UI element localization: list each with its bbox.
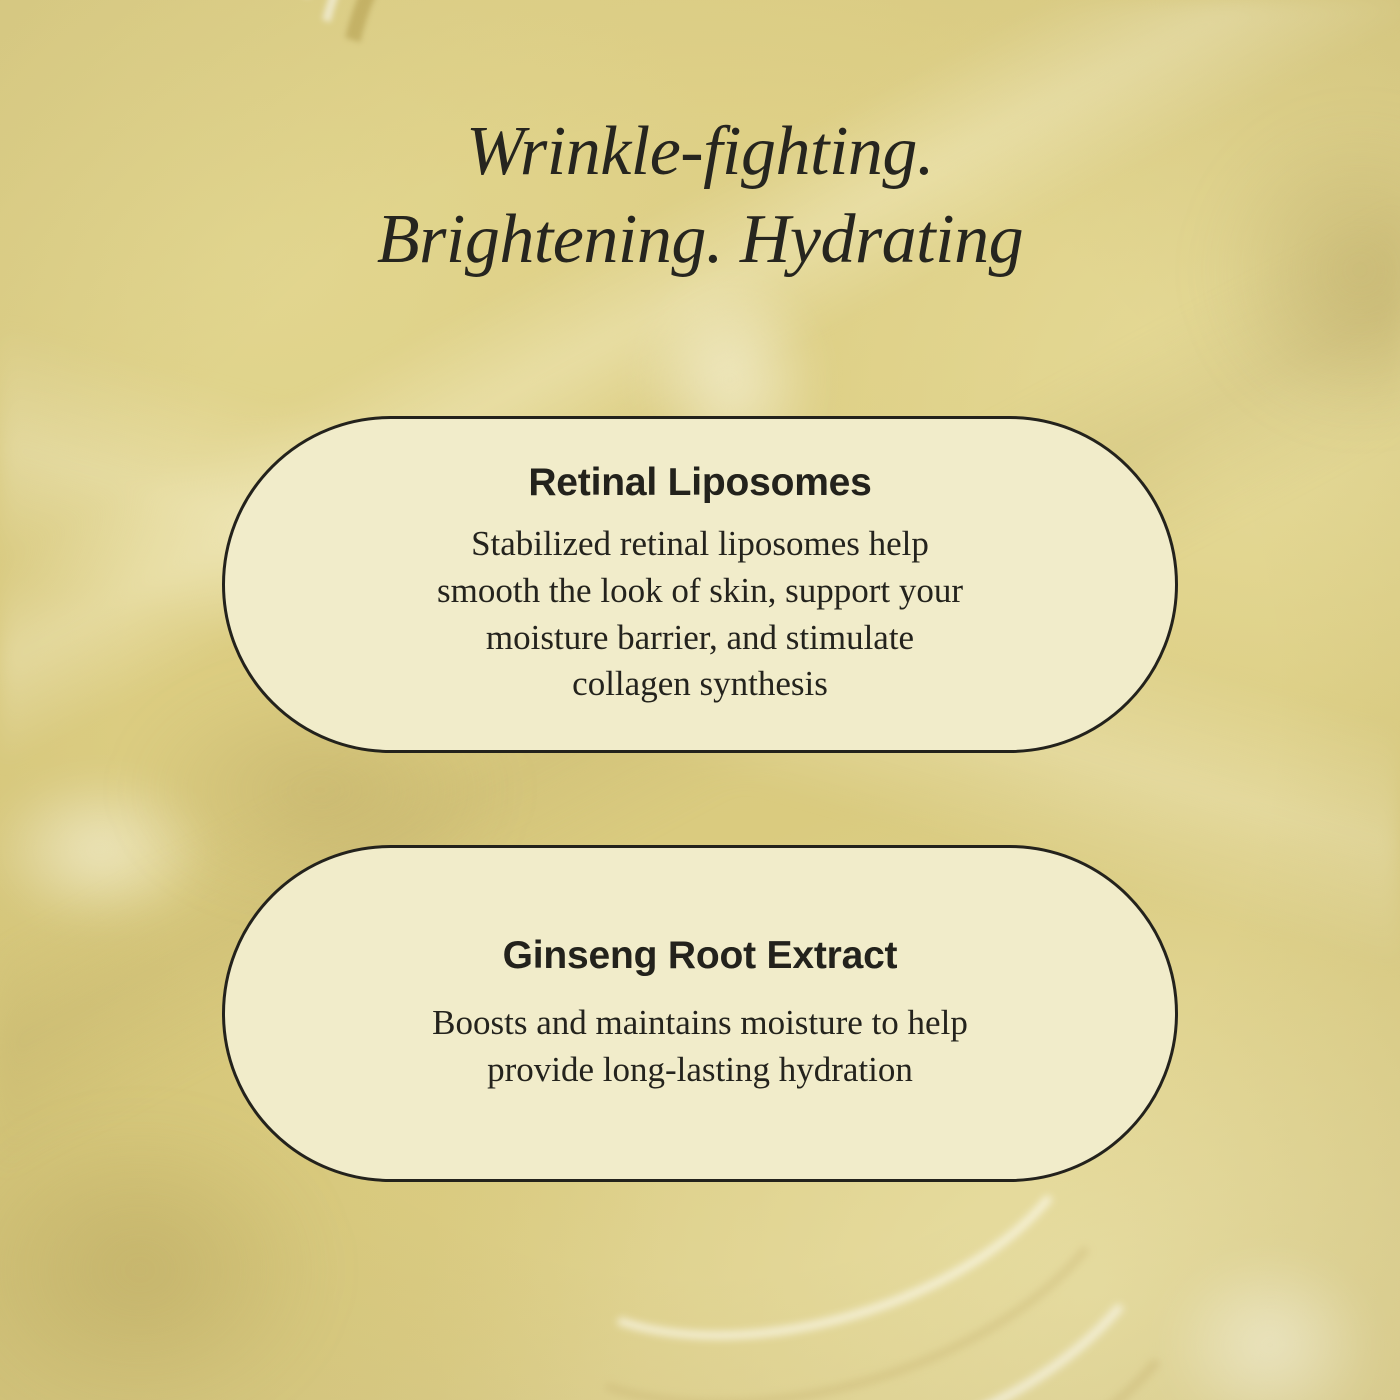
ingredient-card-retinal-liposomes: Retinal Liposomes Stabilized retinal lip… bbox=[222, 416, 1178, 753]
ingredient-card-ginseng-root-extract: Ginseng Root Extract Boosts and maintain… bbox=[222, 845, 1178, 1182]
page-headline: Wrinkle-fighting. Brightening. Hydrating bbox=[0, 108, 1400, 283]
ingredient-card-description: Boosts and maintains moisture to help pr… bbox=[432, 1000, 968, 1094]
ingredient-card-title: Ginseng Root Extract bbox=[503, 934, 898, 978]
headline-line-1: Wrinkle-fighting. bbox=[0, 108, 1400, 196]
headline-line-2: Brightening. Hydrating bbox=[0, 196, 1400, 284]
ingredient-card-description: Stabilized retinal liposomes help smooth… bbox=[437, 521, 963, 709]
ingredient-card-title: Retinal Liposomes bbox=[528, 461, 871, 505]
promo-graphic: Wrinkle-fighting. Brightening. Hydrating… bbox=[0, 0, 1400, 1400]
